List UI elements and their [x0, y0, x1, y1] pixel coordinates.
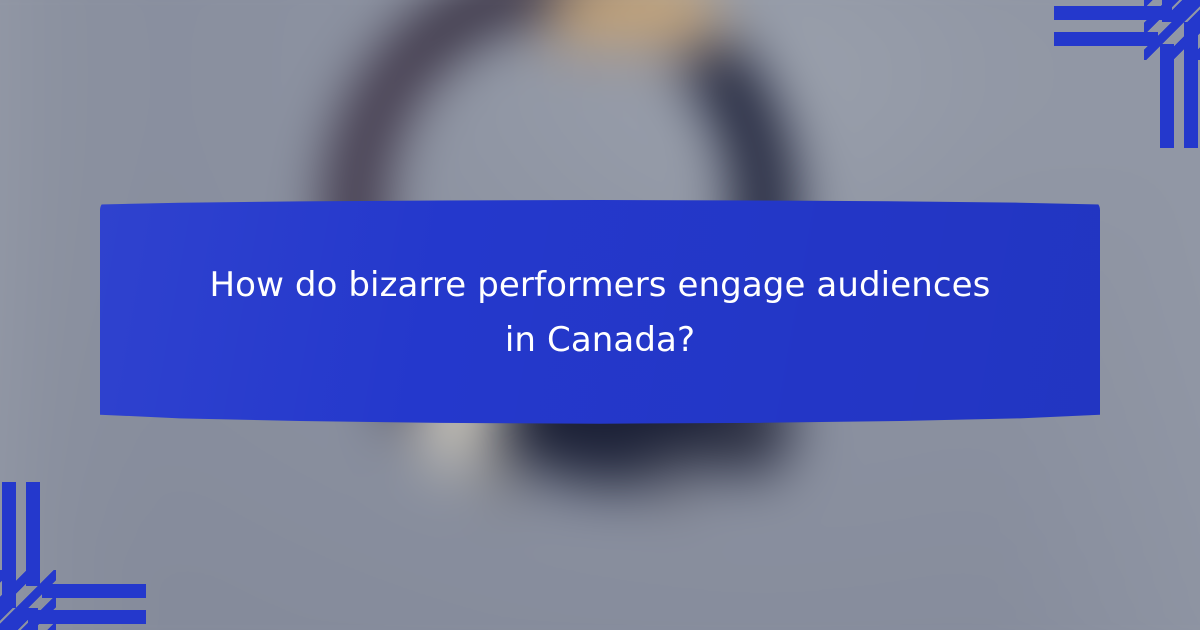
headband-patch-shadow [542, 26, 729, 58]
deco-bar-h-4 [42, 584, 146, 598]
deco-gap-1 [1144, 20, 1180, 32]
circuit-corner-bottom-left [0, 478, 168, 630]
deco-hatch-upper-2 [0, 608, 38, 630]
deco-hatch-upper [1162, 0, 1200, 22]
headline-text: How do bizarre performers engage audienc… [100, 200, 1100, 426]
lower-stem-right [653, 448, 695, 522]
headline-banner: How do bizarre performers engage audienc… [100, 200, 1100, 426]
share-card: How do bizarre performers engage audienc… [0, 0, 1200, 630]
lower-stem-left [483, 437, 521, 518]
deco-bar-h-2 [1054, 32, 1158, 46]
circuit-corner-top-right [1032, 0, 1200, 152]
